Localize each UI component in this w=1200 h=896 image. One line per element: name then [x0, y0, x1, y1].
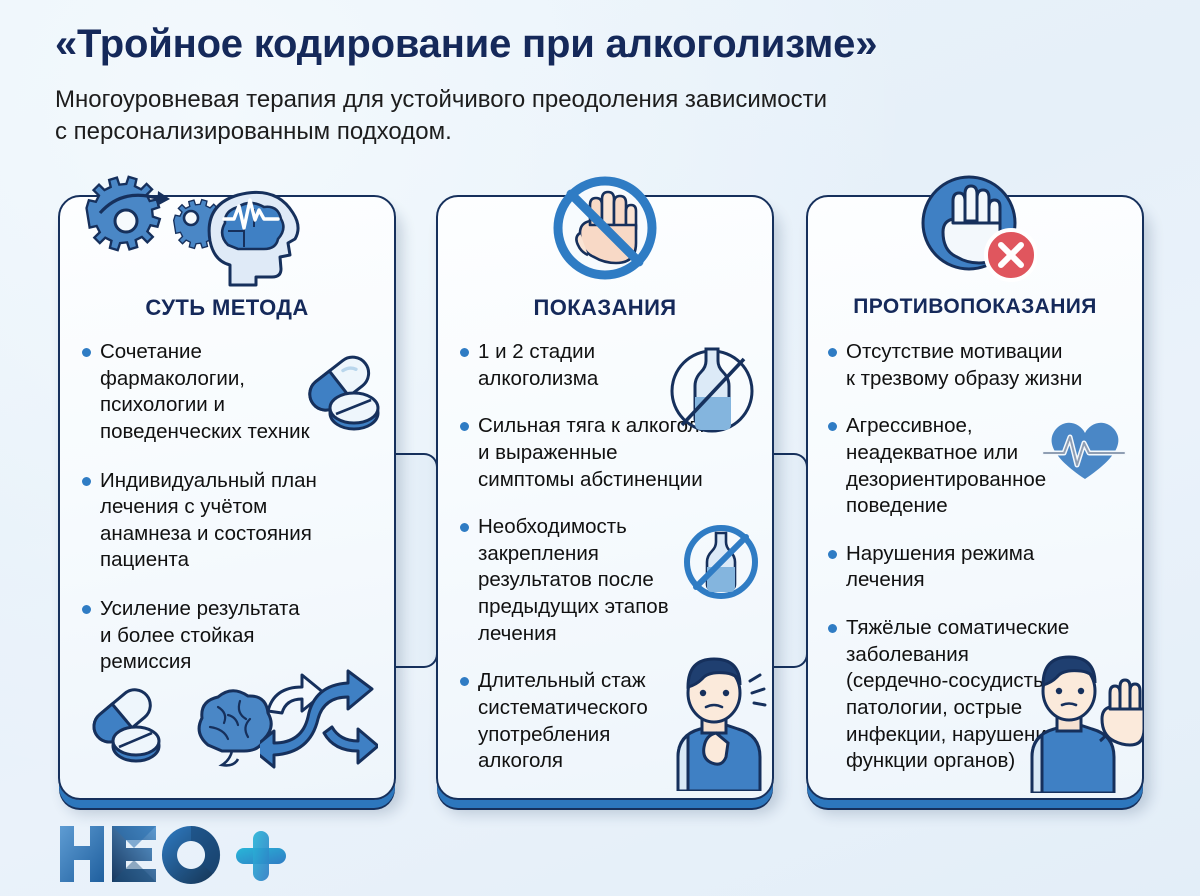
- hand-stop-cross-icon: [808, 169, 1142, 287]
- card-title-protivopokazaniya: ПРОТИВОПОКАЗАНИЯ: [808, 295, 1142, 319]
- bullet-dot-icon: [828, 550, 837, 559]
- bullet-dot-icon: [828, 624, 837, 633]
- bullet-dot-icon: [460, 348, 469, 357]
- bullet-dot-icon: [460, 523, 469, 532]
- bullet-text: Длительный стаж систематического употреб…: [478, 668, 648, 775]
- bullet-list-suth-metoda: Сочетание фармакологии, психологии и пов…: [82, 339, 378, 698]
- list-item: 1 и 2 стадии алкоголизма: [460, 339, 756, 392]
- list-item: Агрессивное, неадекватное или дезориенти…: [828, 413, 1132, 520]
- card-title-suth-metoda: СУТЬ МЕТОДА: [60, 295, 394, 321]
- card-title-pokazaniya: ПОКАЗАНИЯ: [438, 295, 772, 321]
- bullet-text: 1 и 2 стадии алкоголизма: [478, 339, 598, 392]
- connector-card1-card2: [396, 453, 438, 668]
- bullet-text: Тяжёлые соматические заболевания (сердеч…: [846, 615, 1069, 775]
- bullet-dot-icon: [82, 605, 91, 614]
- bullet-dot-icon: [82, 477, 91, 486]
- bullet-text: Индивидуальный план лечения с учётом ана…: [100, 468, 317, 575]
- bullet-text: Необходимость закрепления результатов по…: [478, 514, 669, 647]
- head-brain-gears-icon: [60, 169, 394, 287]
- cards-row: СУТЬ МЕТОДА Сочетание фармакологии, псих…: [0, 195, 1200, 820]
- bullet-text: Усиление результата и более стойкая реми…: [100, 596, 300, 676]
- stop-hand-prohibited-icon: [438, 169, 772, 287]
- list-item: Необходимость закрепления результатов по…: [460, 514, 756, 647]
- card-suth-metoda[interactable]: СУТЬ МЕТОДА Сочетание фармакологии, псих…: [58, 195, 396, 800]
- card-protivopokazaniya[interactable]: ПРОТИВОПОКАЗАНИЯ Отсутствие мотивации к …: [806, 195, 1144, 800]
- brain-icon: [188, 685, 274, 772]
- list-item: Индивидуальный план лечения с учётом ана…: [82, 468, 378, 575]
- bullet-list-protivopokazaniya: Отсутствие мотивации к трезвому образу ж…: [828, 339, 1132, 796]
- bullet-text: Сильная тяга к алкоголю и выраженные сим…: [478, 413, 715, 493]
- bullet-dot-icon: [460, 677, 469, 686]
- list-item: Сильная тяга к алкоголю и выраженные сим…: [460, 413, 756, 493]
- list-item: Нарушения режима лечения: [828, 541, 1132, 594]
- bullet-dot-icon: [460, 422, 469, 431]
- bullet-dot-icon: [82, 348, 91, 357]
- page-title: «Тройное кодирование при алкоголизме»: [55, 22, 1200, 66]
- page-header: «Тройное кодирование при алкоголизме» Мн…: [0, 0, 1200, 147]
- logo-mark: [58, 824, 288, 886]
- bullet-list-pokazaniya: 1 и 2 стадии алкоголизма Сильная тяга к …: [460, 339, 756, 796]
- bullet-text: Отсутствие мотивации к трезвому образу ж…: [846, 339, 1082, 392]
- list-item: Длительный стаж систематического употреб…: [460, 668, 756, 775]
- bullet-dot-icon: [828, 422, 837, 431]
- list-item: Отсутствие мотивации к трезвому образу ж…: [828, 339, 1132, 392]
- list-item: Усиление результата и более стойкая реми…: [82, 596, 378, 676]
- bullet-text: Сочетание фармакологии, психологии и пов…: [100, 339, 310, 446]
- list-item: Сочетание фармакологии, психологии и пов…: [82, 339, 378, 446]
- neo-plus-logo[interactable]: НЕО+: [58, 824, 288, 891]
- card-pokazaniya[interactable]: ПОКАЗАНИЯ 1 и 2 стадии алкоголизма Сильн…: [436, 195, 774, 800]
- list-item: Тяжёлые соматические заболевания (сердеч…: [828, 615, 1132, 775]
- bullet-text: Нарушения режима лечения: [846, 541, 1034, 594]
- page-subtitle: Многоуровневая терапия для устойчивого п…: [55, 84, 1145, 147]
- bullet-text: Агрессивное, неадекватное или дезориенти…: [846, 413, 1046, 520]
- bullet-dot-icon: [828, 348, 837, 357]
